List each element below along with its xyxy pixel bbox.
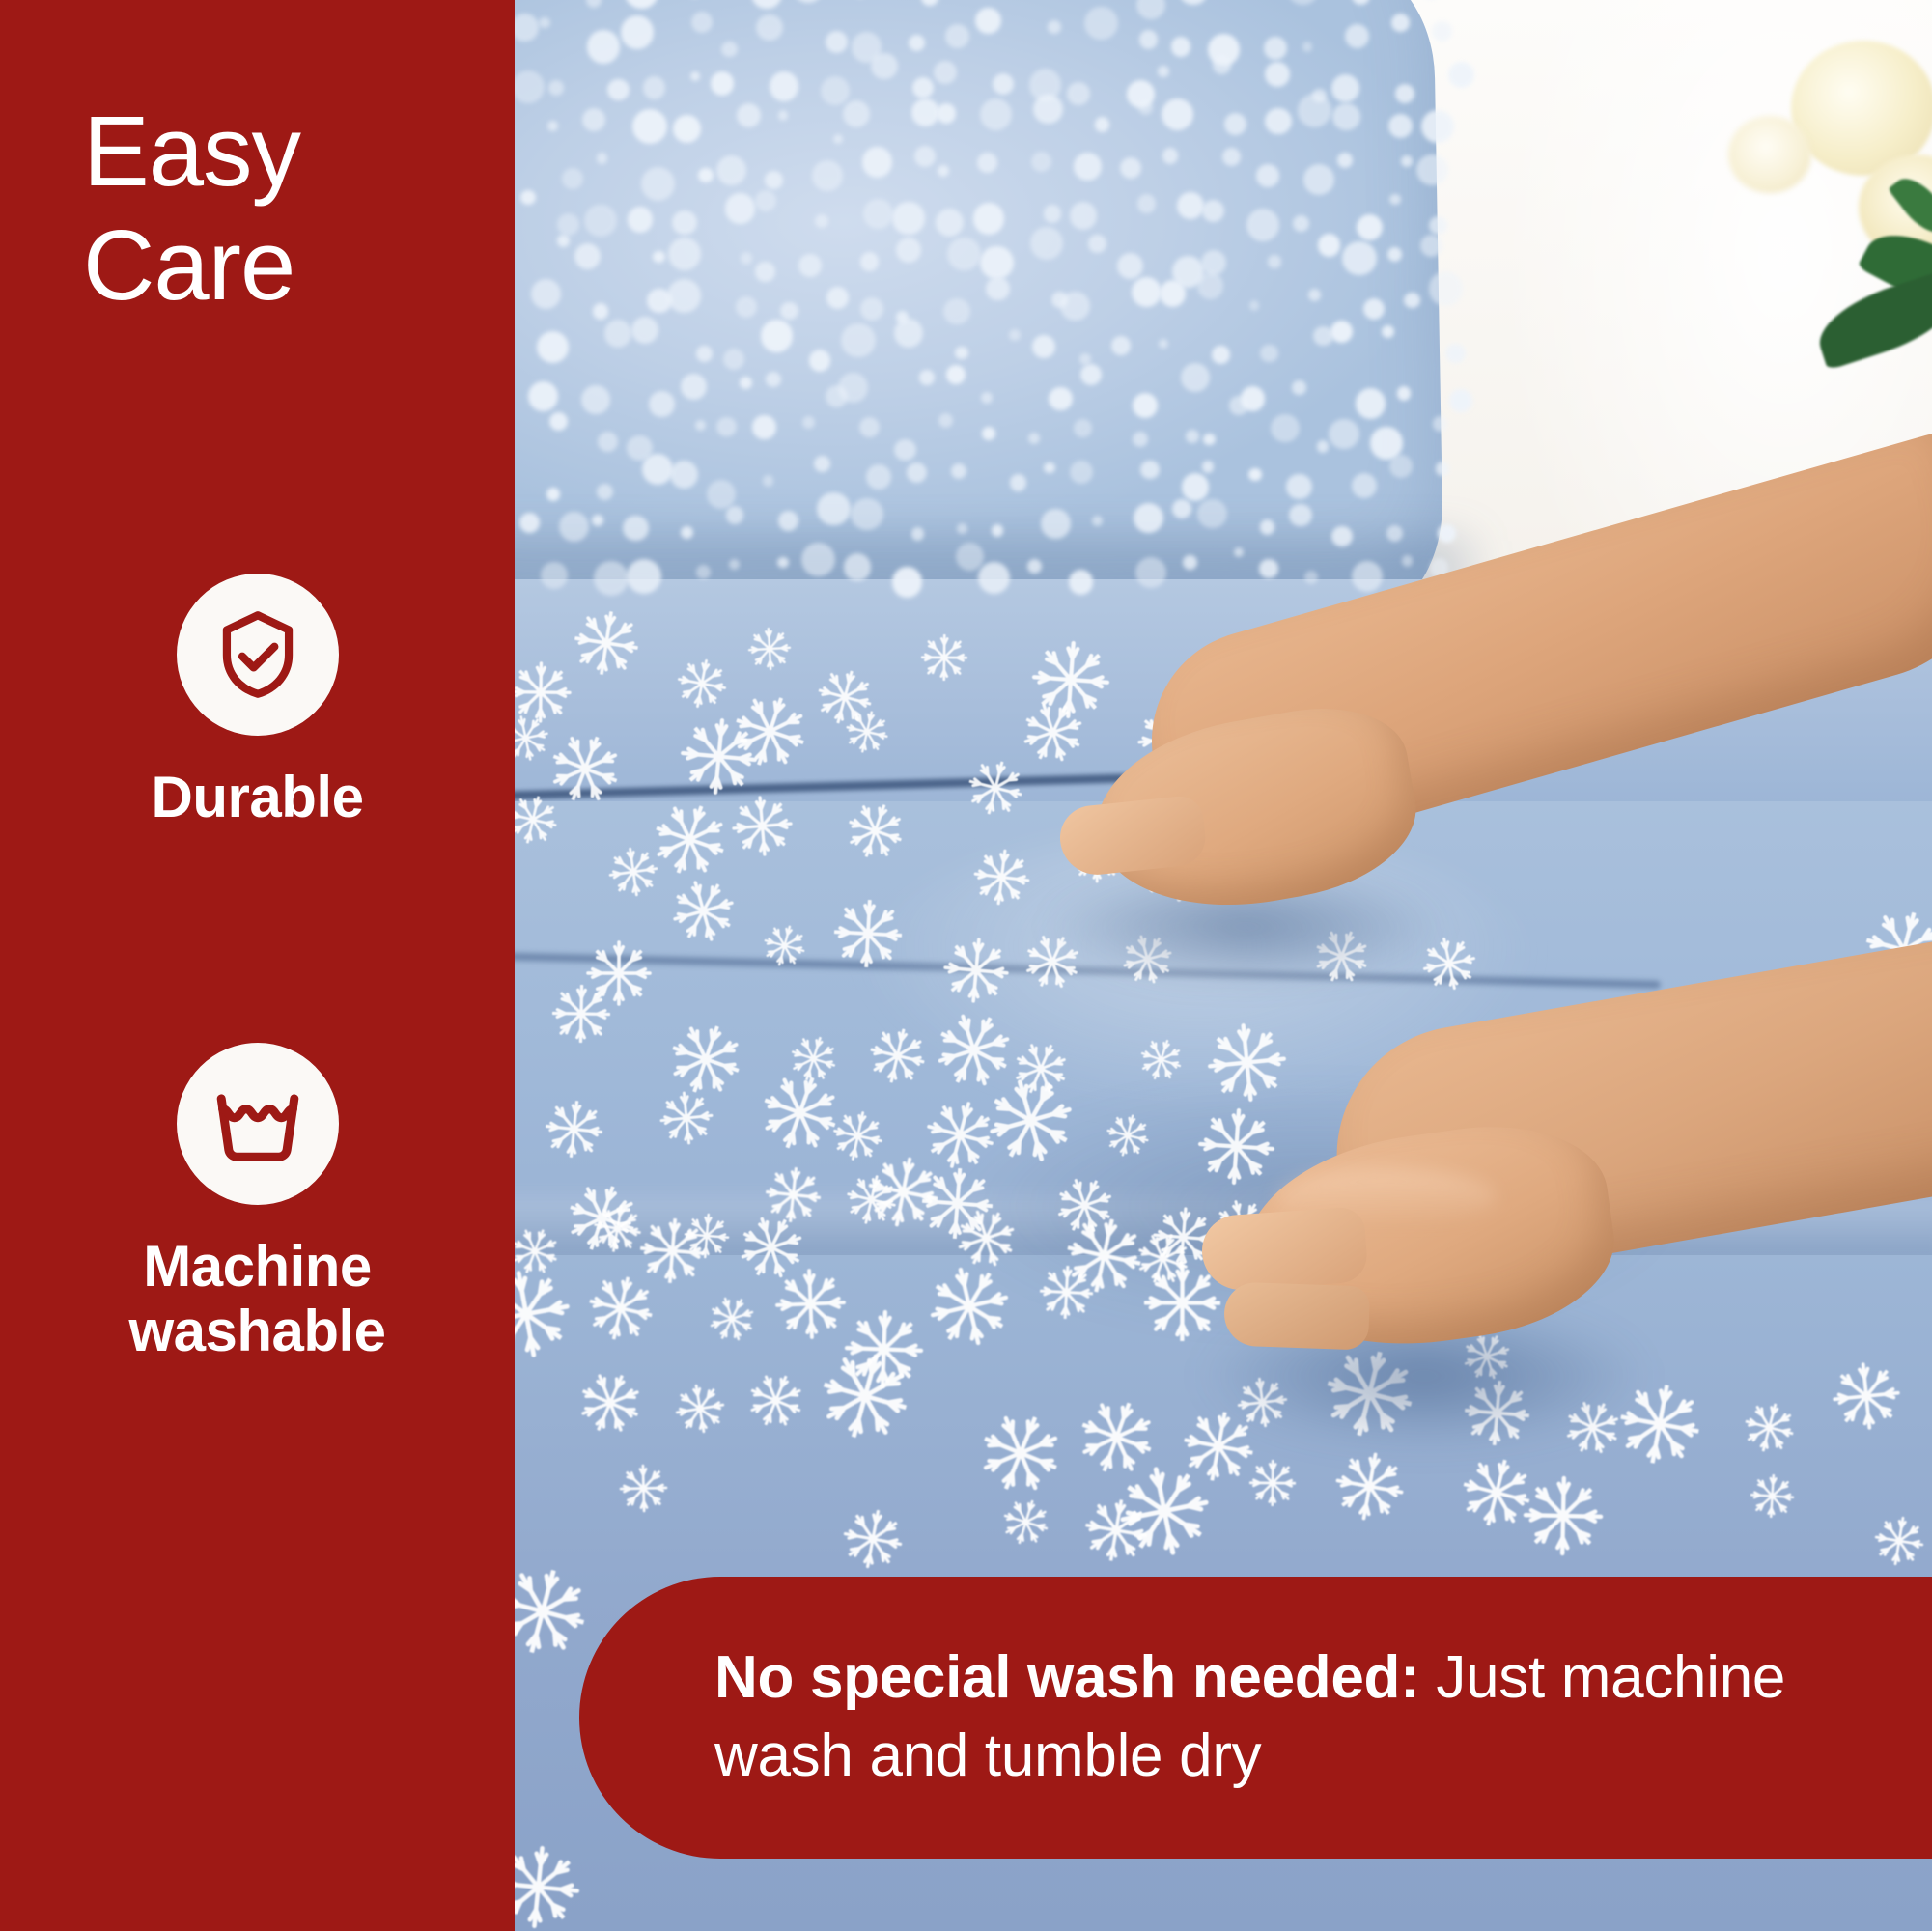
snowflake-icon xyxy=(591,1202,646,1257)
page-title: EasyCare xyxy=(83,95,489,323)
snowflake-icon xyxy=(1740,1398,1800,1458)
wash-tub-icon xyxy=(206,1072,310,1176)
snowflake-icon xyxy=(763,1165,824,1226)
snowflake-icon xyxy=(855,1144,951,1240)
page-title-line2: Care xyxy=(83,210,294,321)
snowflake-icon xyxy=(1324,1440,1416,1532)
feature-label: Durable xyxy=(0,765,515,829)
feature-machine-washable: Machinewashable xyxy=(0,1043,515,1363)
snowflake-icon xyxy=(702,1289,762,1349)
snowflake-icon xyxy=(1039,1265,1095,1321)
snowflake-icon xyxy=(571,1363,650,1442)
feature-label-line1: Machine xyxy=(143,1234,372,1299)
snowflake-icon xyxy=(1865,1507,1932,1575)
feature-label: Machinewashable xyxy=(0,1234,515,1363)
caption-banner: No special wash needed: Just machine was… xyxy=(579,1577,1932,1859)
snowflake-icon xyxy=(832,1498,912,1579)
caption-bold: No special wash needed: xyxy=(714,1644,1419,1711)
feature-label-line2: washable xyxy=(128,1299,385,1363)
snowflake-icon xyxy=(970,1403,1071,1503)
snowflake-icon xyxy=(997,1494,1054,1551)
snowflake-icon xyxy=(1820,1350,1913,1442)
snowflake-icon xyxy=(609,1455,676,1522)
snowflake-icon xyxy=(637,1216,707,1285)
shield-check-icon xyxy=(208,604,308,705)
feature-durable: Durable xyxy=(0,574,515,829)
snowflake-icon xyxy=(582,1270,658,1346)
snowflake-icon xyxy=(741,1366,810,1436)
snowflake-icon xyxy=(666,1375,734,1442)
caption-text: No special wash needed: Just machine was… xyxy=(714,1639,1845,1795)
wash-tub-badge xyxy=(177,1043,339,1205)
feature-sidebar: EasyCare Durable xyxy=(0,0,515,1931)
snowflake-icon xyxy=(916,1253,1022,1359)
finger xyxy=(1223,1281,1370,1350)
page-title-line1: Easy xyxy=(83,96,300,207)
shield-check-badge xyxy=(177,574,339,736)
infographic-canvas: EasyCare Durable xyxy=(0,0,1932,1931)
snowflake-icon xyxy=(1248,1459,1296,1506)
finger xyxy=(1199,1206,1368,1293)
snowflake-icon xyxy=(1750,1473,1796,1520)
